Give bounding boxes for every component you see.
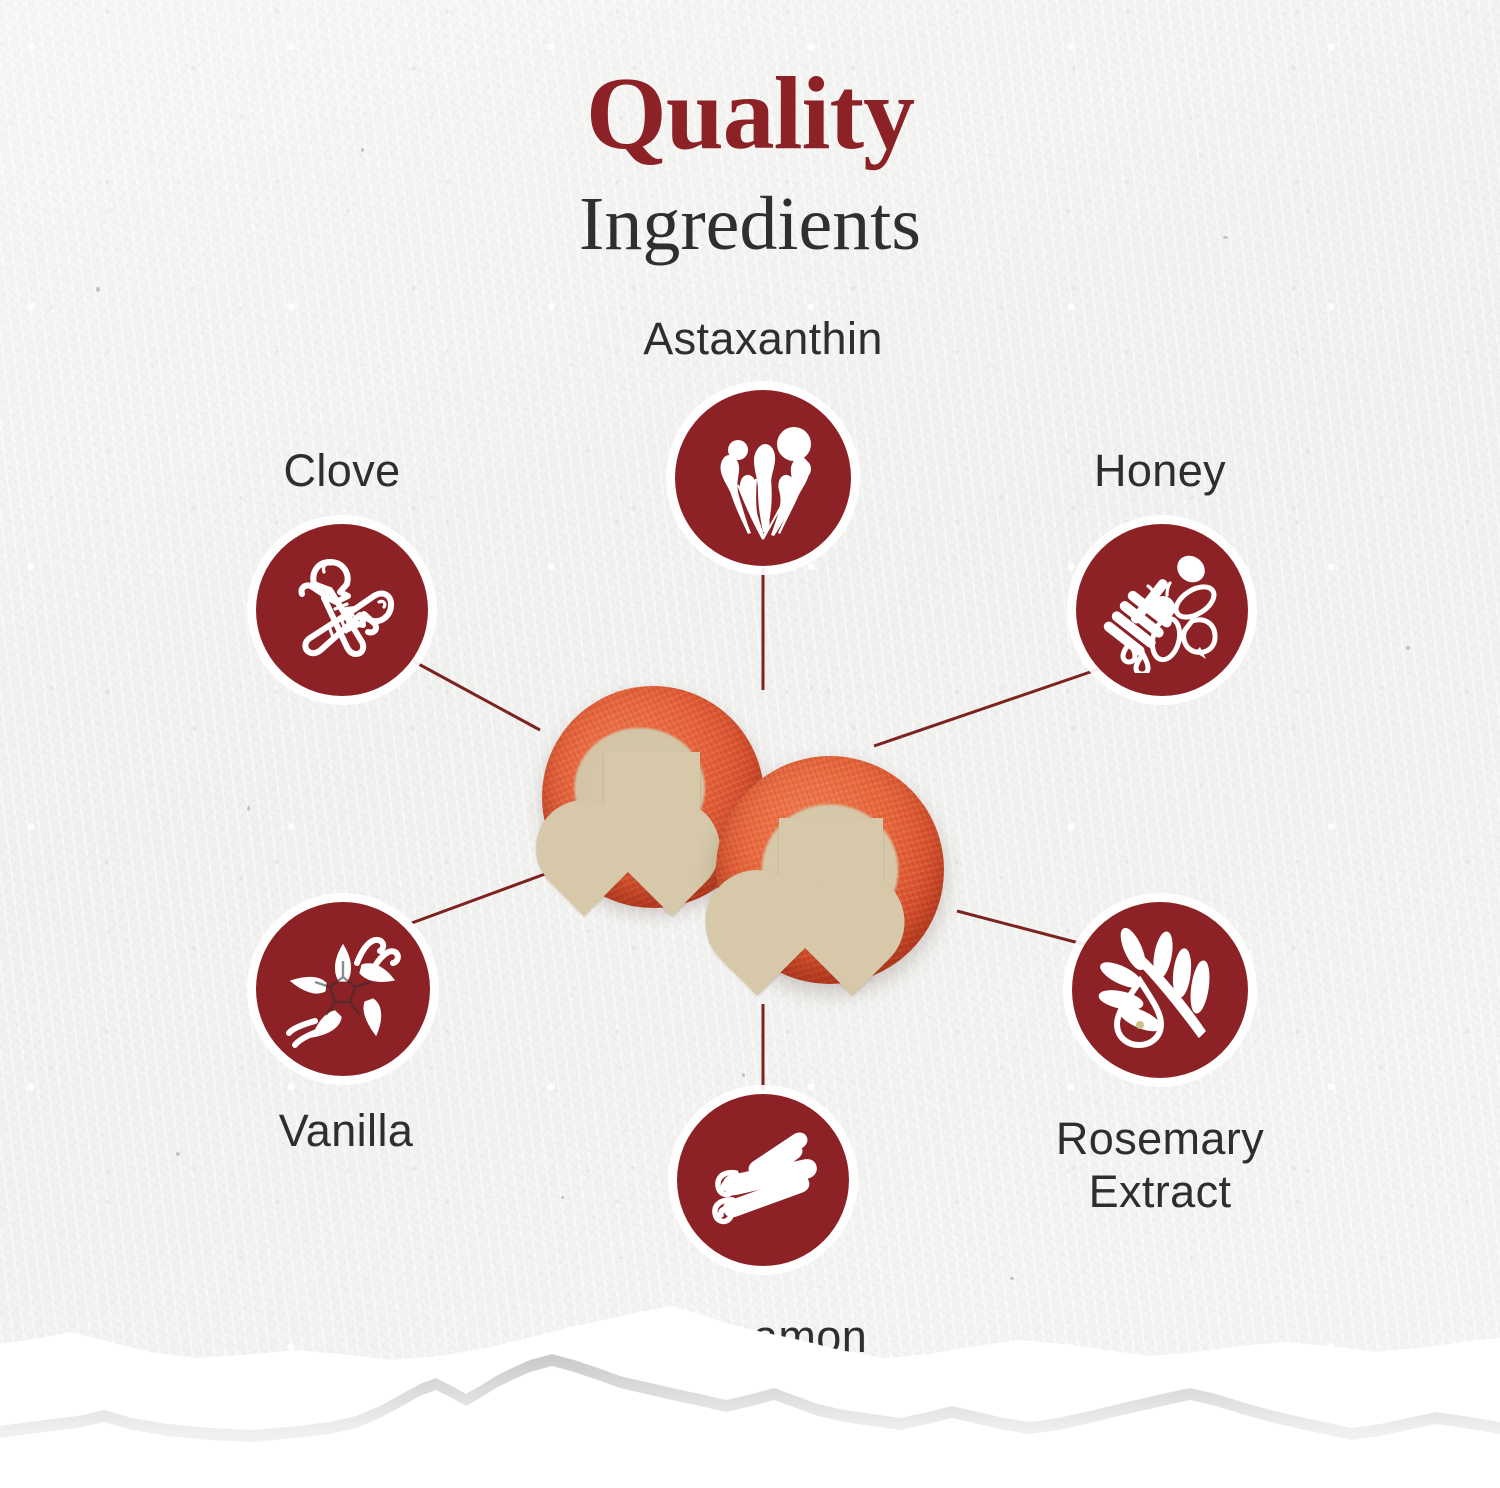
- heart-shape: [604, 752, 700, 848]
- ingredients-infographic: Quality Ingredients Astaxanthin: [0, 0, 1500, 1488]
- node-label-honey: Honey: [1000, 444, 1320, 497]
- node-label-rosemary-extract: Rosemary Extract: [980, 1112, 1340, 1218]
- vanilla-flower-icon: [279, 925, 407, 1053]
- treat-right: [716, 756, 944, 984]
- badge-astaxanthin[interactable]: [675, 390, 851, 566]
- honey-dipper-bee-icon: [1099, 547, 1225, 673]
- node-label-vanilla: Vanilla: [186, 1104, 506, 1157]
- cinnamon-sticks-icon: [700, 1117, 826, 1243]
- seaweed-bubbles-icon: [698, 413, 828, 543]
- badge-honey[interactable]: [1076, 524, 1248, 696]
- node-label-clove: Clove: [182, 444, 502, 497]
- rosemary-sprig-drop-icon: [1095, 925, 1225, 1055]
- node-label-cinnamon: Cinnamon: [563, 1310, 963, 1363]
- page-subtitle: Ingredients: [0, 186, 1500, 262]
- badge-clove[interactable]: [256, 524, 428, 696]
- heart-shape: [779, 818, 883, 922]
- badge-vanilla[interactable]: [256, 902, 430, 1076]
- badge-rosemary-extract[interactable]: [1072, 902, 1248, 1078]
- badge-cinnamon[interactable]: [677, 1094, 849, 1266]
- node-label-astaxanthin: Astaxanthin: [563, 312, 963, 365]
- connector-rosemary: [957, 911, 1098, 948]
- product-image: [520, 678, 960, 1008]
- page-title: Quality: [0, 62, 1500, 166]
- clove-buds-icon: [278, 546, 406, 674]
